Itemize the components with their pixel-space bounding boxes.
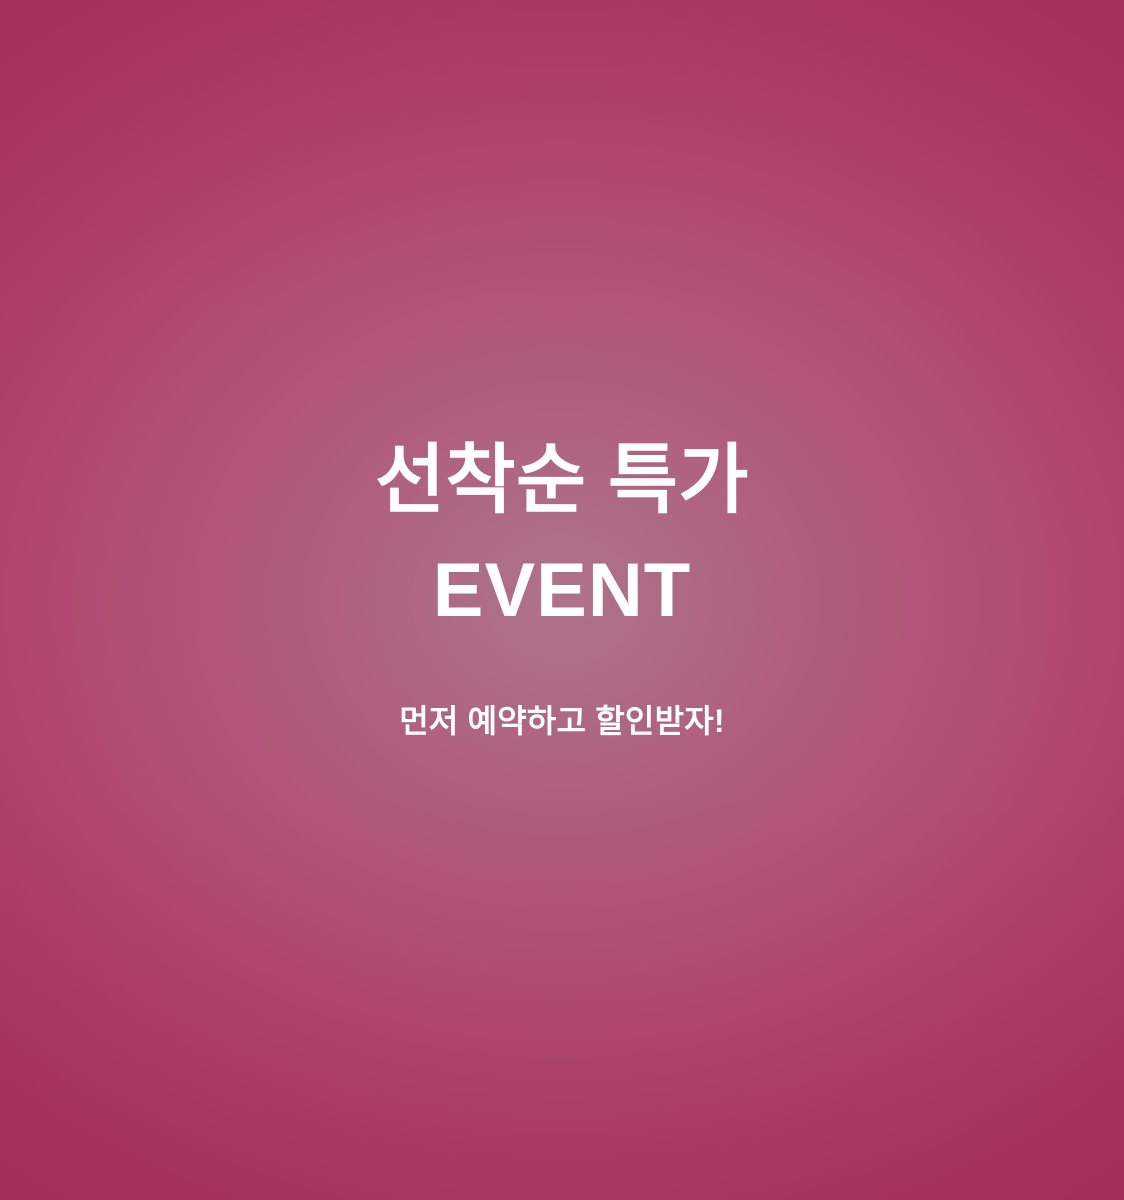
banner-headline: 선착순 특가 EVENT: [375, 443, 749, 629]
banner-subtitle: 먼저 예약하고 할인받자!: [399, 705, 724, 737]
headline-line-korean: 선착순 특가: [375, 443, 749, 519]
promo-event-banner: 선착순 특가 EVENT 먼저 예약하고 할인받자!: [0, 0, 1124, 1200]
headline-line-english: EVENT: [375, 553, 749, 629]
banner-text-block: 선착순 특가 EVENT 먼저 예약하고 할인받자!: [0, 443, 1124, 737]
